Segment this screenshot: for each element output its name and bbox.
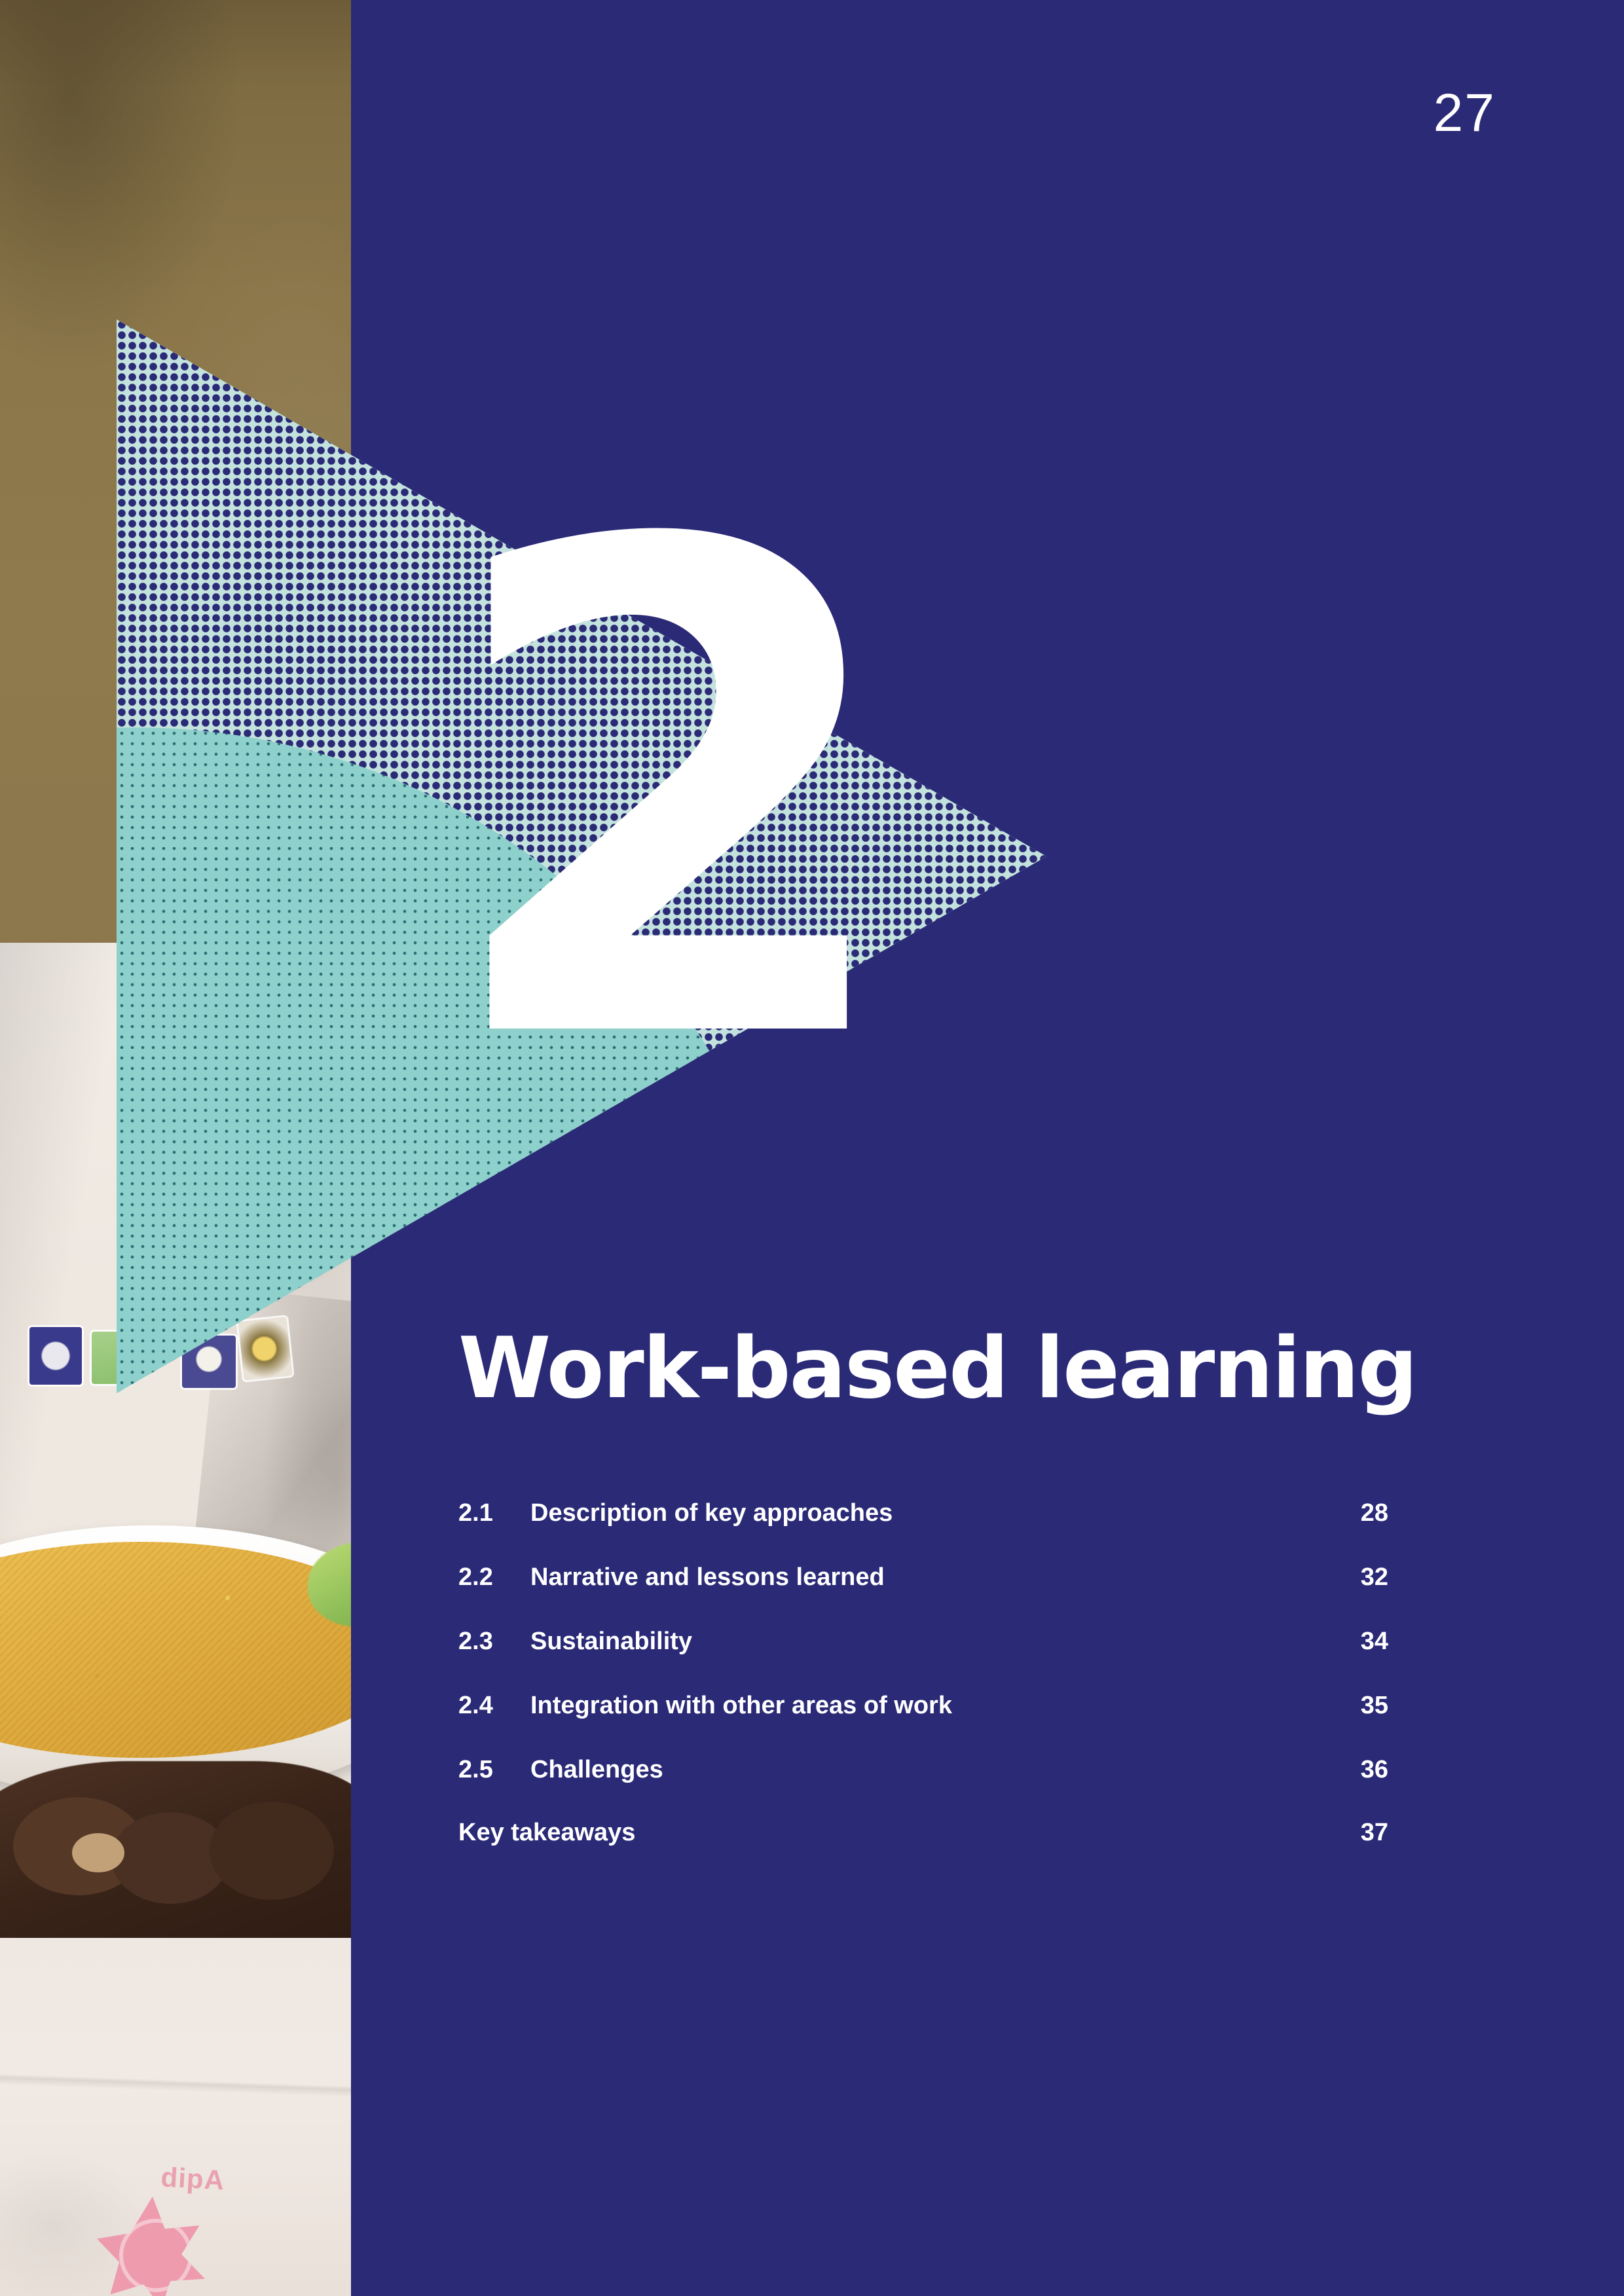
page-number: 27: [1433, 82, 1496, 144]
chapter-numeral: 2: [436, 458, 899, 1133]
toc-row[interactable]: 2.5 Challenges 36: [458, 1756, 1388, 1820]
page-title: Work-based learning: [458, 1320, 1416, 1417]
photo-finger-3: [210, 1802, 334, 1900]
toc-row-key-takeaways[interactable]: Key takeaways 37: [458, 1819, 1388, 1883]
photo-rice: [0, 1542, 351, 1758]
toc-row[interactable]: 2.3 Sustainability 34: [458, 1628, 1388, 1692]
uniform-badge-1: [29, 1327, 82, 1385]
toc-page-number: 35: [458, 1692, 1388, 1720]
toc-row[interactable]: 2.2 Narrative and lessons learned 32: [458, 1563, 1388, 1628]
toc-page-number: 32: [458, 1563, 1388, 1592]
toc-row[interactable]: 2.4 Integration with other areas of work…: [458, 1692, 1388, 1756]
chapter-divider-page: Aqib 2 27 Work-based learning 2.1 Descri…: [0, 0, 1624, 2296]
chapter-photo: Aqib: [0, 0, 351, 2296]
toc-page-number: 37: [458, 1819, 1388, 1847]
chapter-toc: 2.1 Description of key approaches 28 2.2…: [458, 1499, 1388, 1883]
toc-page-number: 34: [458, 1628, 1388, 1656]
toc-row[interactable]: 2.1 Description of key approaches 28: [458, 1499, 1388, 1563]
toc-page-number: 28: [458, 1499, 1388, 1527]
uniform-badge-4: [238, 1317, 292, 1380]
uniform-badge-2: [92, 1332, 132, 1384]
photo-fingernail: [72, 1833, 124, 1872]
toc-page-number: 36: [458, 1756, 1388, 1784]
photo-wall-background: [0, 0, 351, 985]
uniform-badge-3: [182, 1336, 236, 1388]
